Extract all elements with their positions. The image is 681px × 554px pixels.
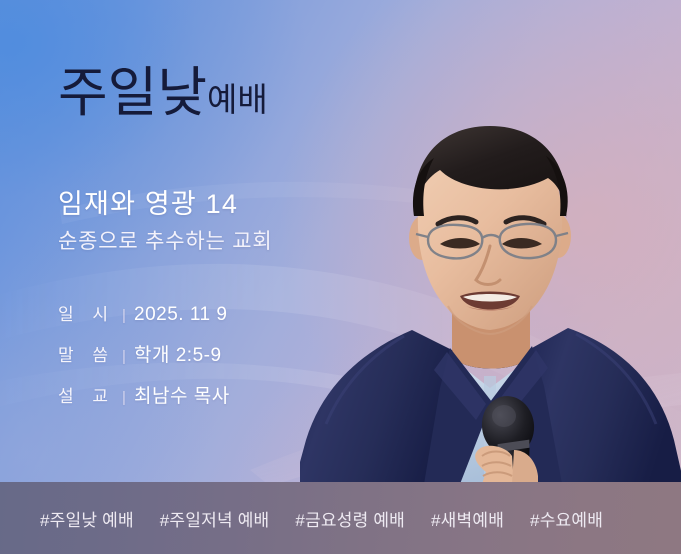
detail-value-scripture: 학개 2:5-9: [134, 340, 222, 367]
detail-label-scripture: 말 씀: [58, 341, 114, 366]
detail-separator-scripture: |: [114, 348, 134, 365]
hashtag-friday-spirit[interactable]: #금요성령 예배: [295, 506, 405, 531]
sermon-subtitle: 순종으로 추수하는 교회: [58, 225, 272, 255]
worship-service-poster: 주일낮예배 임재와 영광 14 순종으로 추수하는 교회 일 시 | 2025.…: [0, 0, 681, 554]
hashtag-dawn[interactable]: #새벽예배: [431, 506, 504, 531]
service-type-title-main: 주일낮: [58, 63, 207, 123]
service-type-title: 주일낮예배: [58, 66, 268, 120]
detail-label-date: 일 시: [58, 300, 114, 325]
hashtag-list: #주일낮 예배 #주일저녁 예배 #금요성령 예배 #새벽예배 #수요예배: [0, 506, 603, 531]
speaker-photo: [300, 120, 681, 484]
detail-separator-date: |: [114, 307, 134, 324]
detail-value-date: 2025. 11 9: [134, 304, 227, 326]
sermon-title: 임재와 영광 14: [58, 182, 238, 221]
hashtag-wednesday[interactable]: #수요예배: [530, 506, 603, 531]
detail-value-preacher: 최남수 목사: [134, 381, 230, 408]
hashtag-bar: #주일낮 예배 #주일저녁 예배 #금요성령 예배 #새벽예배 #수요예배: [0, 482, 681, 554]
hashtag-sunday-day[interactable]: #주일낮 예배: [40, 506, 134, 531]
detail-row-preacher: 설 교 | 최남수 목사: [58, 381, 230, 408]
detail-row-scripture: 말 씀 | 학개 2:5-9: [58, 340, 230, 367]
detail-row-date: 일 시 | 2025. 11 9: [58, 300, 230, 326]
hashtag-sunday-evening[interactable]: #주일저녁 예배: [160, 506, 270, 531]
service-type-title-sub: 예배: [207, 81, 268, 118]
detail-label-preacher: 설 교: [58, 382, 114, 407]
service-details: 일 시 | 2025. 11 9 말 씀 | 학개 2:5-9 설 교 | 최남…: [58, 300, 230, 408]
detail-separator-preacher: |: [114, 389, 134, 406]
